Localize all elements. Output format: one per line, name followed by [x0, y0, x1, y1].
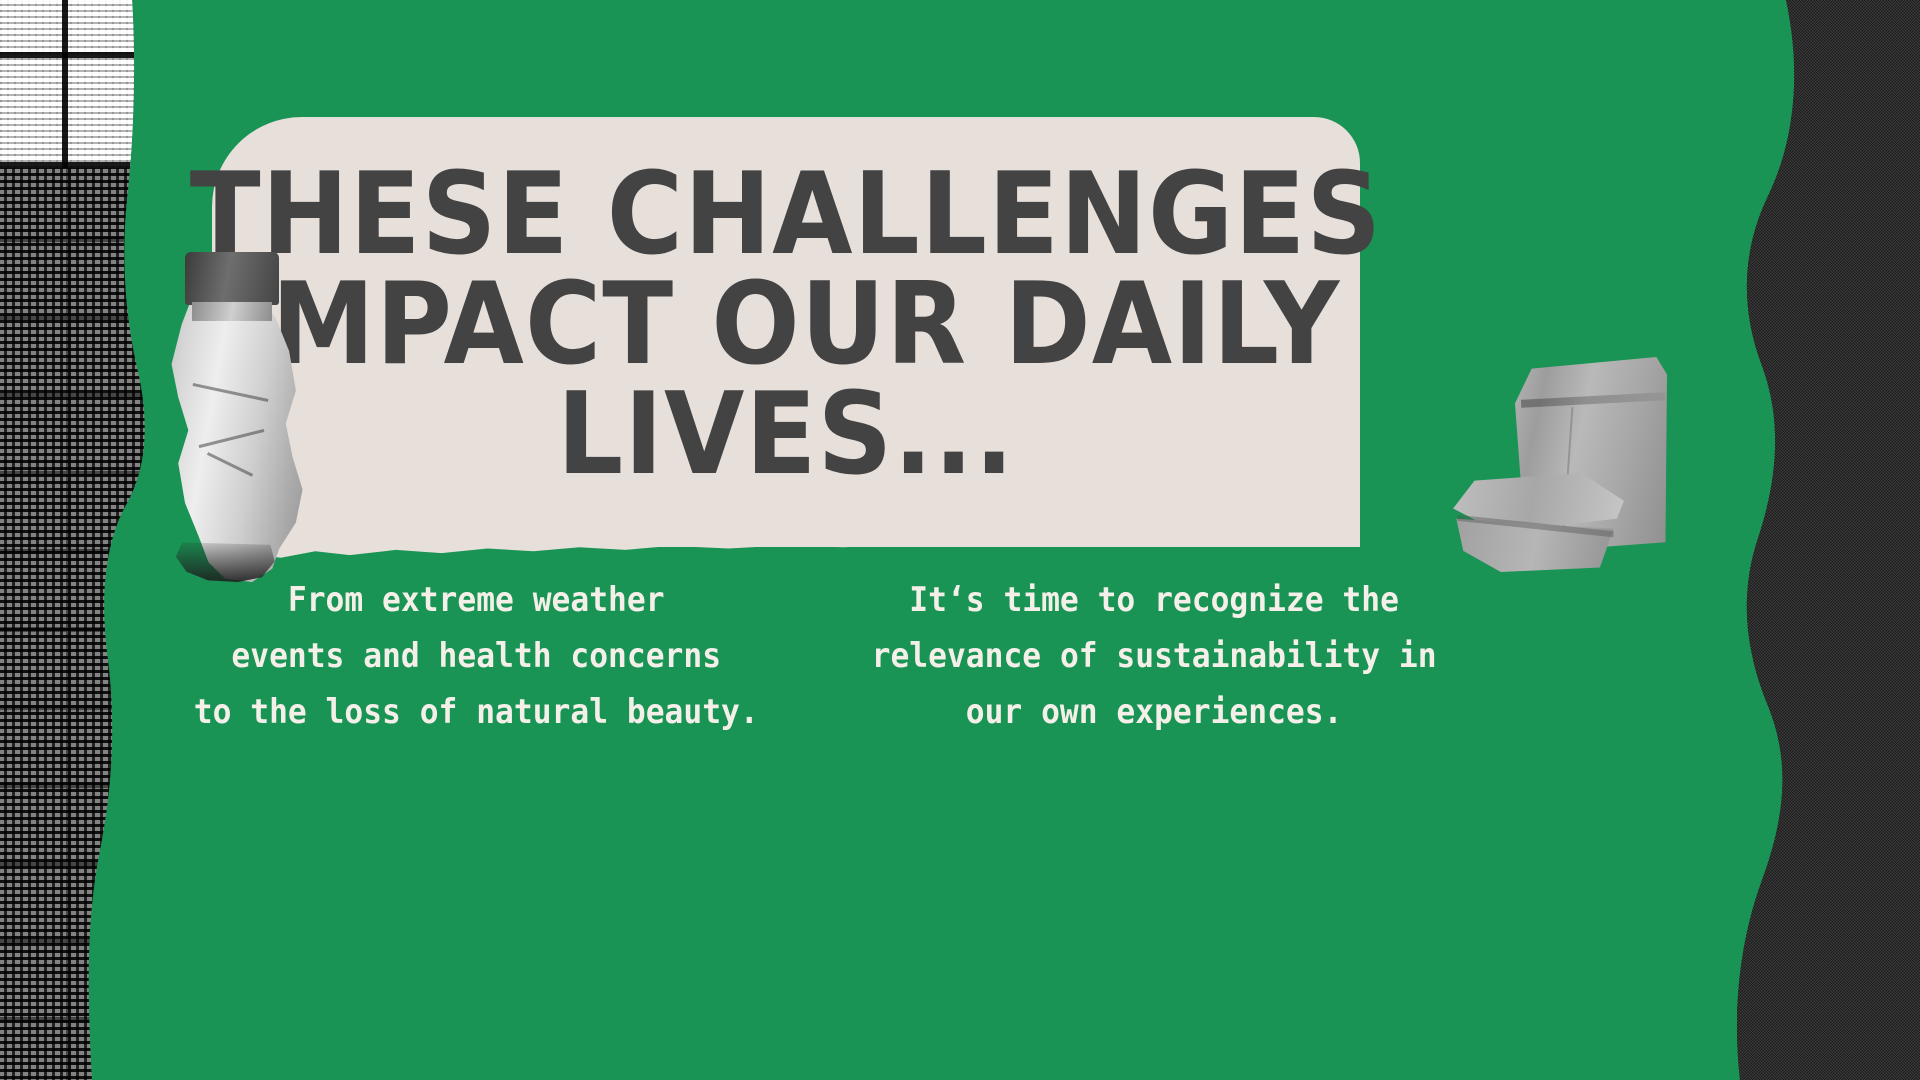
bottle-neck [192, 302, 273, 322]
left-texture-strip [0, 0, 165, 1080]
page-title: THESE CHALLENGES IMPACT OUR DAILY LIVES.… [178, 160, 1395, 491]
bottle-cap [185, 252, 279, 305]
headline-line-3: LIVES... [178, 380, 1395, 490]
plastic-bottle-image [148, 252, 316, 582]
left-text-line-3: to the loss of natural beauty. [177, 684, 776, 740]
headline-line-1: THESE CHALLENGES [178, 160, 1395, 270]
right-text-line-3: our own experiences. [855, 684, 1454, 740]
takeout-container-image [1446, 473, 1624, 572]
left-text-line-1: From extreme weather [177, 572, 776, 628]
body-columns: From extreme weather events and health c… [150, 572, 1480, 740]
slide-canvas: THESE CHALLENGES IMPACT OUR DAILY LIVES.… [0, 0, 1920, 1080]
body-column-right: It‘s time to recognize the relevance of … [845, 572, 1453, 740]
weave-light-panel [0, 0, 165, 168]
body-column-left: From extreme weather events and health c… [177, 572, 792, 740]
left-text-line-2: events and health concerns [177, 628, 776, 684]
headline-line-2: IMPACT OUR DAILY [178, 270, 1395, 380]
right-text-line-1: It‘s time to recognize the [855, 572, 1454, 628]
right-text-line-2: relevance of sustainability in [855, 628, 1454, 684]
